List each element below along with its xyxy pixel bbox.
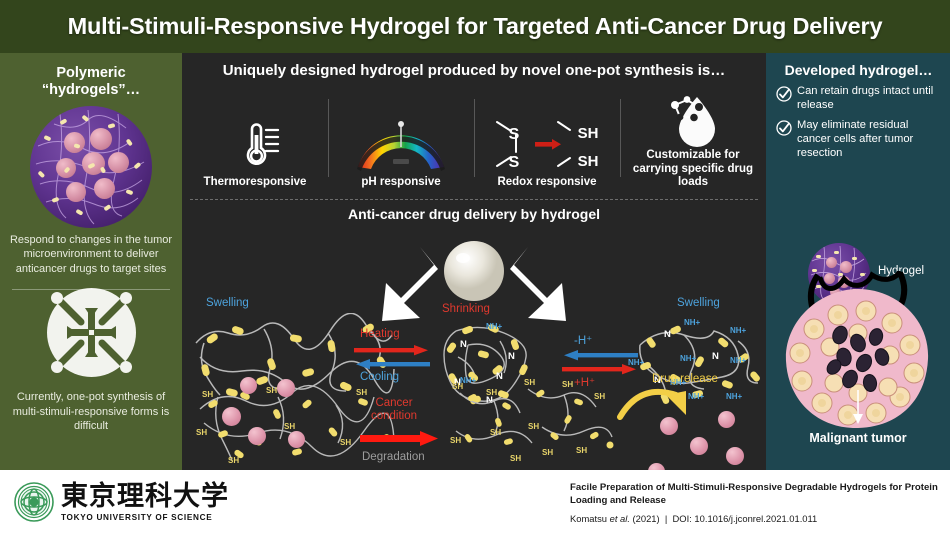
svg-text:SH: SH: [562, 380, 573, 389]
delivery-section-title: Anti-cancer drug delivery by hydrogel: [182, 206, 766, 222]
svg-text:SH: SH: [486, 388, 497, 397]
feature-label: Thermoresponsive: [204, 176, 307, 189]
right-panel: Developed hydrogel… Can retain drugs int…: [766, 53, 950, 470]
svg-text:SH: SH: [528, 422, 539, 431]
tus-seal-icon: [14, 482, 54, 522]
university-logo: 東京理科大学 TOKYO UNIVERSITY OF SCIENCE: [14, 482, 229, 522]
svg-text:SH: SH: [490, 428, 501, 437]
feature-label: Customizable for carrying specific drug …: [624, 149, 762, 189]
poster-title: Multi-Stimuli-Responsive Hydrogel for Ta…: [68, 13, 883, 40]
benefit-text: May eliminate residual cancer cells afte…: [797, 119, 941, 160]
drug-particle: [288, 431, 305, 448]
citation-authors: Komatsu: [570, 513, 607, 524]
svg-text:SH: SH: [576, 446, 587, 455]
left-panel-caption-1: Respond to changes in the tumor microenv…: [8, 233, 174, 277]
heating-cooling-arrows-icon: [354, 345, 432, 373]
center-panel: Uniquely designed hydrogel produced by n…: [182, 53, 766, 470]
converging-arrows-icon: [39, 280, 144, 385]
svg-text:SH: SH: [452, 382, 463, 391]
citation-etal: et al.: [610, 513, 630, 524]
state-label-swelling-right: Swelling: [677, 297, 720, 309]
transition-label-degradation: Degradation: [362, 451, 425, 463]
citation-divider: |: [665, 513, 667, 524]
drug-droplet-icon: [663, 91, 723, 149]
svg-text:NH+: NH+: [726, 392, 743, 401]
down-arrow-icon: [848, 390, 868, 426]
center-heading: Uniquely designed hydrogel produced by n…: [182, 53, 766, 79]
svg-text:SH: SH: [594, 392, 605, 401]
transition-label-cancer-condition: Cancer condition: [364, 397, 424, 423]
drug-particle: [248, 427, 266, 445]
svg-text:N: N: [712, 351, 719, 362]
svg-text:SH: SH: [228, 456, 239, 465]
poster-header: Multi-Stimuli-Responsive Hydrogel for Ta…: [0, 0, 950, 53]
svg-text:SH: SH: [284, 422, 295, 431]
svg-text:SH: SH: [202, 390, 213, 399]
svg-text:N: N: [664, 329, 671, 340]
benefit-item: Can retain drugs intact until release: [776, 85, 941, 112]
tumor-label: Malignant tumor: [766, 431, 950, 445]
svg-text:SH: SH: [356, 388, 367, 397]
feature-thermoresponsive: Thermoresponsive: [182, 91, 328, 191]
university-name-en: TOKYO UNIVERSITY OF SCIENCE: [61, 513, 229, 522]
feature-redox-responsive: S S SH SH Redox responsive: [474, 91, 620, 191]
delivery-diagram: Swelling Shrinking Swelling: [182, 225, 766, 470]
transition-label-deprotonation: -H⁺: [574, 333, 592, 347]
left-panel: Polymeric “hydrogels”…: [0, 53, 182, 470]
university-name-jp: 東京理科大学: [61, 483, 229, 510]
svg-text:S: S: [509, 154, 520, 171]
left-panel-divider: [12, 289, 170, 290]
release-label-drug-release: Drug release: [652, 373, 718, 385]
section-divider: [190, 199, 758, 200]
citation-title: Facile Preparation of Multi-Stimuli-Resp…: [570, 482, 940, 508]
svg-text:SH: SH: [266, 386, 277, 395]
state-label-shrinking: Shrinking: [442, 303, 490, 315]
drug-particle: [277, 379, 295, 397]
svg-text:NH+: NH+: [628, 358, 645, 367]
degraded-oligomer-icon: SHSHSH SHSH SHSHSH SHSHSH: [450, 373, 620, 469]
disulfide-thiol-icon: S S SH SH: [492, 114, 602, 176]
drug-release-arrow-icon: [614, 381, 704, 425]
svg-text:SH: SH: [196, 428, 207, 437]
svg-text:N: N: [508, 351, 515, 362]
released-drug-particle: [726, 447, 744, 465]
svg-text:N: N: [460, 339, 467, 350]
feature-ph-responsive: pH responsive: [328, 91, 474, 191]
benefit-text: Can retain drugs intact until release: [797, 85, 941, 112]
drug-particle: [222, 407, 241, 426]
svg-text:S: S: [509, 126, 520, 143]
right-panel-heading: Developed hydrogel…: [776, 62, 941, 78]
drug-molecule-dots-icon: [30, 106, 152, 228]
check-icon: [776, 86, 792, 102]
svg-text:NH+: NH+: [730, 326, 747, 335]
feature-list: Thermoresponsive: [182, 91, 766, 191]
ph-gauge-icon: [353, 114, 449, 176]
svg-text:NH+: NH+: [680, 354, 697, 363]
state-label-swelling-left: Swelling: [206, 297, 249, 309]
released-drug-particle: [660, 417, 678, 435]
citation-doi: DOI: 10.1016/j.jconrel.2021.01.011: [673, 513, 818, 524]
svg-text:SH: SH: [578, 153, 599, 170]
svg-text:NH+: NH+: [684, 318, 701, 327]
svg-text:NH+: NH+: [486, 322, 503, 331]
feature-label: pH responsive: [361, 176, 440, 189]
released-drug-particle: [690, 437, 708, 455]
transition-label-heating: Heating: [360, 328, 400, 340]
svg-text:SH: SH: [340, 438, 351, 447]
svg-text:SH: SH: [542, 448, 553, 457]
svg-text:SH: SH: [450, 436, 461, 445]
svg-text:NH+: NH+: [730, 356, 747, 365]
converging-arrows-glyph: [39, 280, 144, 385]
feature-customizable-drug-load: Customizable for carrying specific drug …: [620, 91, 766, 191]
released-drug-particle: [718, 411, 735, 428]
citation-block: Facile Preparation of Multi-Stimuli-Resp…: [570, 482, 940, 524]
hydrogel-sphere-icon: [30, 106, 152, 228]
infographic-poster: Multi-Stimuli-Responsive Hydrogel for Ta…: [0, 0, 950, 534]
svg-text:SH: SH: [578, 125, 599, 142]
citation-year: (2021): [633, 513, 660, 524]
benefit-item: May eliminate residual cancer cells afte…: [776, 119, 941, 160]
left-panel-heading: Polymeric “hydrogels”…: [8, 65, 174, 100]
svg-text:SH: SH: [524, 378, 535, 387]
feature-label: Redox responsive: [497, 176, 596, 189]
svg-text:SH: SH: [510, 454, 521, 463]
left-panel-caption-2: Currently, one-pot synthesis of multi-st…: [8, 390, 174, 434]
citation-details: Komatsu et al. (2021) | DOI: 10.1016/j.j…: [570, 513, 940, 524]
poster-footer: 東京理科大学 TOKYO UNIVERSITY OF SCIENCE Facil…: [0, 470, 950, 534]
check-icon: [776, 120, 792, 136]
drug-particle: [240, 377, 257, 394]
thermometer-icon: [228, 114, 282, 176]
degradation-arrow-icon: [360, 431, 440, 447]
